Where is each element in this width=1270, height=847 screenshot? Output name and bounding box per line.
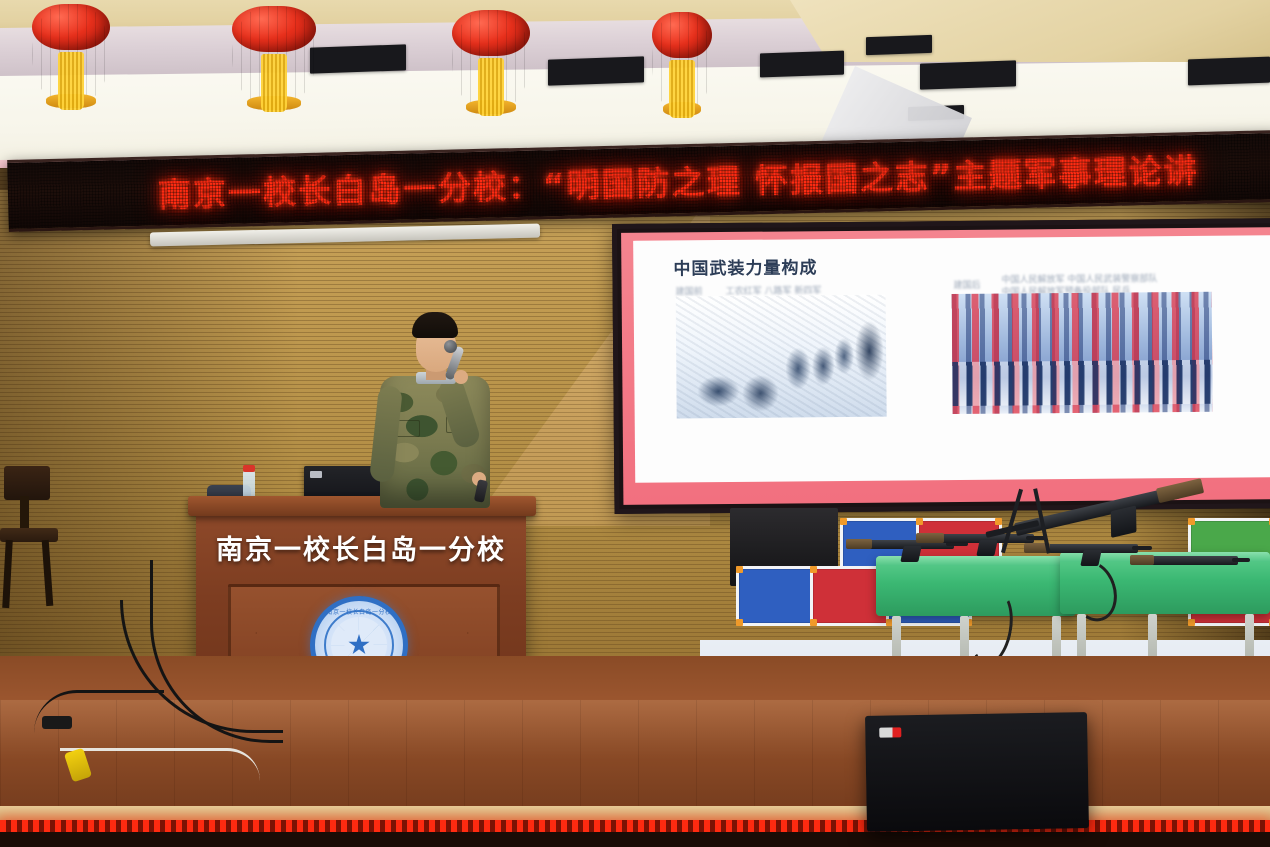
foreground-laptop <box>865 712 1089 832</box>
crate-corner <box>736 619 743 626</box>
emblem-arc-text: 南京一校长白岛一分校 <box>315 607 403 616</box>
lantern-tassel <box>669 60 695 118</box>
crate-corner <box>1188 619 1195 626</box>
lantern-body <box>32 4 110 50</box>
military-parade-photo <box>952 292 1213 414</box>
chair-post <box>20 496 29 532</box>
parade-front-row <box>952 360 1212 406</box>
ceiling-light-panel-5 <box>1188 57 1270 86</box>
uniform-pocket-left <box>396 420 420 437</box>
laptop-badge-icon <box>879 727 901 737</box>
crate-corner <box>916 518 923 525</box>
red-lantern-1 <box>32 4 110 104</box>
historical-war-photo <box>676 295 887 419</box>
presenter-right-hand <box>454 370 468 384</box>
crate-corner <box>810 619 817 626</box>
chair-backrest <box>4 466 50 500</box>
slide-right-detail-1: 中国人民解放军 中国人民武装警察部队 <box>1001 274 1221 287</box>
crate-corner <box>810 566 817 573</box>
crate-corner <box>840 518 847 525</box>
ceiling-slab-right <box>790 0 1270 62</box>
laptop-logo <box>310 471 322 478</box>
ceiling-light-panel-1 <box>310 44 406 73</box>
bottle-cap <box>243 465 255 472</box>
ceiling-light-panel-6 <box>866 35 932 55</box>
slide-title: 中国武装力量构成 <box>673 253 817 279</box>
ceiling-light-panel-4 <box>920 60 1016 89</box>
ceiling-light-panel-3 <box>760 51 844 78</box>
presenter-hair <box>412 312 458 338</box>
lantern-body <box>452 10 530 56</box>
auditorium-photo: 南京一校长白岛一分校：“明国防之理 怀报国之志”主题军事理论讲 中国武装力量构成… <box>0 0 1270 847</box>
red-lantern-2 <box>232 6 316 106</box>
lantern-tassel <box>261 54 287 112</box>
stage-front-face <box>0 832 1270 847</box>
ceiling-light-panel-2 <box>548 56 644 85</box>
photo-grain <box>676 295 887 419</box>
crate-corner <box>736 566 743 573</box>
red-lantern-3 <box>452 10 530 110</box>
lantern-body <box>652 12 712 58</box>
red-lantern-4 <box>652 12 712 112</box>
black-power-adapter <box>42 716 72 729</box>
slide-right-label: 建国后 <box>953 278 980 291</box>
lantern-tassel <box>58 52 84 110</box>
lantern-body <box>232 6 316 52</box>
crate-blue-2 <box>736 566 820 626</box>
microphone-head <box>444 340 457 353</box>
presenter <box>372 312 498 512</box>
lantern-tassel <box>478 58 504 116</box>
